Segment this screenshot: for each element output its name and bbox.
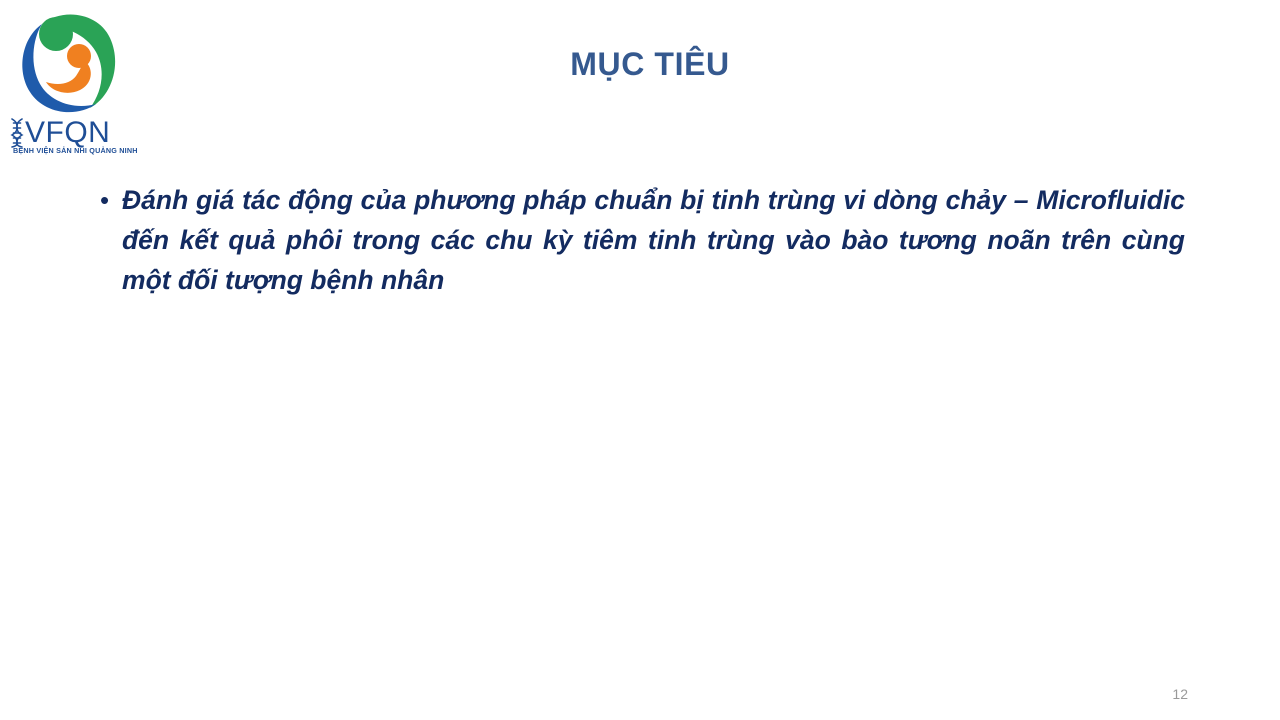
- list-item: • Đánh giá tác động của phương pháp chuẩ…: [95, 180, 1185, 300]
- mother-child-emblem-icon: [16, 8, 120, 118]
- logo-vfqn-text: VFQN: [25, 118, 110, 148]
- content-body: • Đánh giá tác động của phương pháp chuẩ…: [95, 180, 1185, 300]
- logo-wordmark: VFQN: [8, 114, 120, 148]
- slide-canvas: VFQN BỆNH VIỆN SẢN NHI QUẢNG NINH MỤC TI…: [0, 0, 1280, 720]
- hospital-logo: VFQN BỆNH VIỆN SẢN NHI QUẢNG NINH: [8, 4, 120, 162]
- page-number: 12: [1172, 686, 1188, 702]
- logo-tagline: BỆNH VIỆN SẢN NHI QUẢNG NINH: [13, 146, 121, 155]
- objective-text: Đánh giá tác động của phương pháp chuẩn …: [122, 180, 1185, 300]
- dna-helix-icon: [8, 118, 26, 148]
- page-title: MỤC TIÊU: [130, 42, 1170, 86]
- bullet-marker-icon: •: [95, 180, 122, 220]
